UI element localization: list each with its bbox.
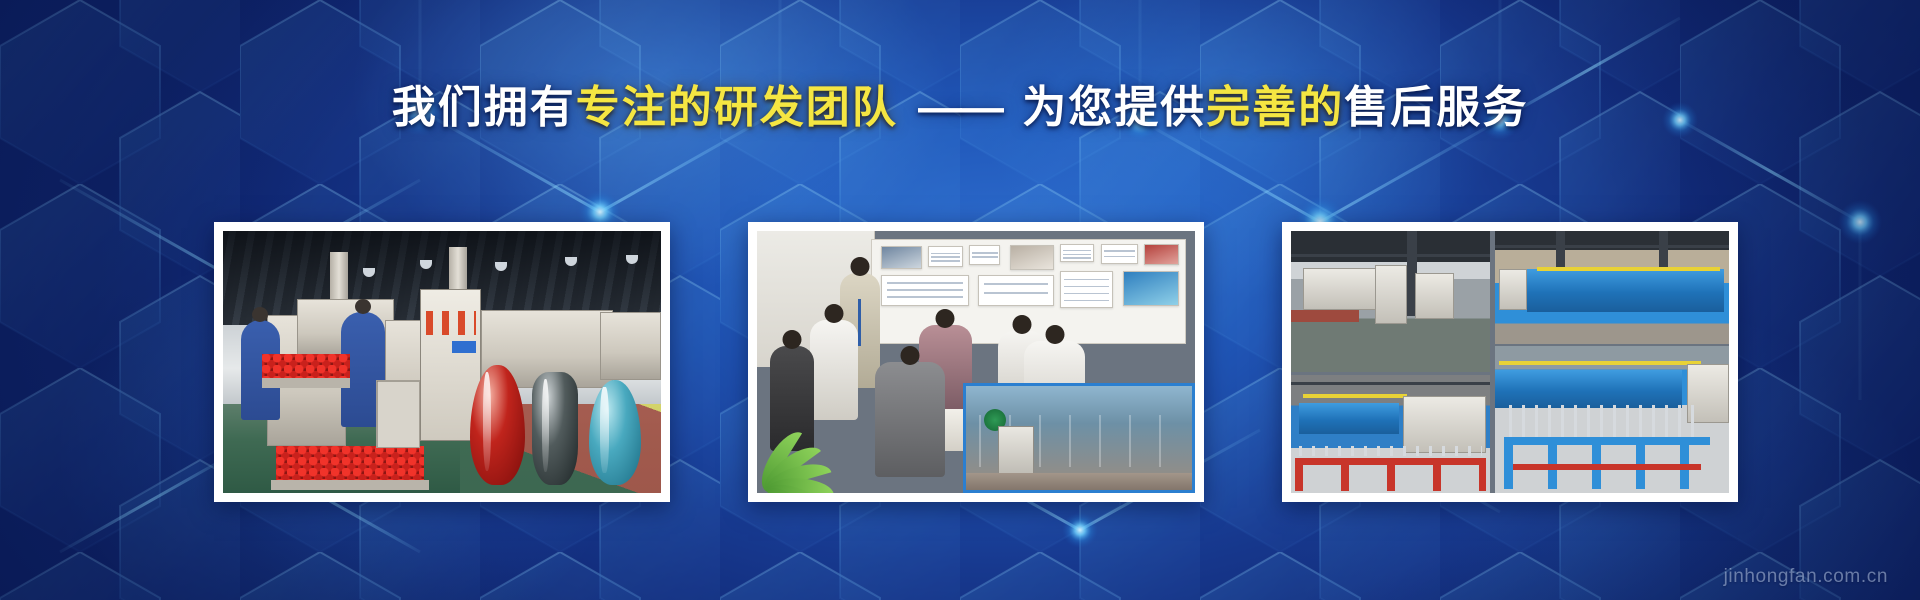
ceiling-lamp xyxy=(626,255,638,264)
building-wall xyxy=(1403,396,1487,453)
blue-rail xyxy=(1504,437,1710,444)
blue-tunnel-furnace xyxy=(1527,269,1724,312)
lanyard xyxy=(858,299,861,346)
control-label xyxy=(452,341,476,353)
red-base-rail xyxy=(1513,464,1700,470)
control-buttons xyxy=(426,311,476,335)
board-certificate xyxy=(1101,244,1139,264)
photo-frame-meeting[interactable] xyxy=(748,222,1204,502)
control-box xyxy=(998,426,1034,480)
roof-beam xyxy=(1291,382,1490,385)
board-drawing xyxy=(978,275,1053,306)
tunnel-oven-end xyxy=(600,312,661,380)
person-attendee-back xyxy=(875,362,945,477)
exhaust-hood xyxy=(1499,269,1527,310)
site-watermark: jinhongfan.com.cn xyxy=(1724,566,1888,588)
vase-dark xyxy=(532,372,578,485)
control-cabinet xyxy=(1375,265,1407,324)
collage-panel-drying-line xyxy=(1291,231,1490,372)
promo-banner: 我们拥有专注的研发团队 —— 为您提供完善的售后服务 xyxy=(0,0,1920,600)
plastic-crate xyxy=(376,380,420,448)
headline-part-1: 我们拥有 xyxy=(392,83,576,132)
headline-accent-2: 完善的 xyxy=(1206,83,1344,132)
exhaust-duct xyxy=(449,247,467,294)
oven-cabinet xyxy=(1303,268,1383,310)
inset-floor xyxy=(966,473,1192,490)
blue-chamber xyxy=(1299,403,1399,434)
board-drawing xyxy=(881,275,969,306)
board-photo xyxy=(1123,271,1179,306)
collage-panel-hanging-line xyxy=(1495,346,1729,493)
roof-beam xyxy=(1495,245,1729,248)
photo-frame-equipment-collage[interactable] xyxy=(1282,222,1738,502)
blue-tunnel-furnace xyxy=(1495,370,1682,408)
photo-frame-factory-line[interactable] xyxy=(214,222,670,502)
headline-separator: —— xyxy=(912,83,1008,132)
headline-accent-1: 专注的研发团队 xyxy=(576,83,898,132)
floor-marking xyxy=(1291,310,1359,321)
equipment-inset-photo xyxy=(963,383,1195,493)
collage-panel-conveyor xyxy=(1291,375,1490,493)
collage-panel-blue-furnace xyxy=(1495,231,1729,344)
photo-gallery xyxy=(0,222,1920,502)
headline-part-3: 为您提供 xyxy=(1022,83,1206,132)
photo-equipment-collage xyxy=(1291,231,1729,493)
person-attendee xyxy=(770,346,814,451)
red-products-on-line xyxy=(262,354,350,378)
conveyor-chain xyxy=(1299,446,1482,456)
machine-unit xyxy=(1415,273,1455,318)
product-bench xyxy=(271,480,429,490)
board-certificate xyxy=(1060,244,1094,263)
person-attendee xyxy=(810,320,858,420)
board-photo xyxy=(881,246,922,269)
photo-factory-line xyxy=(223,231,661,493)
board-document xyxy=(928,246,962,267)
board-photo xyxy=(1010,245,1054,270)
banner-headline: 我们拥有专注的研发团队 —— 为您提供完善的售后服务 xyxy=(0,82,1920,134)
roof-beam xyxy=(1291,254,1490,257)
headline-part-5: 售后服务 xyxy=(1344,83,1528,132)
yellow-gas-pipe xyxy=(1499,361,1701,365)
yellow-gantry xyxy=(1303,394,1407,398)
photo-meeting xyxy=(757,231,1195,493)
board-document xyxy=(969,245,1000,265)
board-photo xyxy=(1144,244,1178,265)
red-conveyor-rail xyxy=(1295,458,1486,465)
yellow-gas-pipe xyxy=(1537,267,1720,271)
board-spec-sheet xyxy=(1060,271,1113,308)
conveyor-legs xyxy=(1295,465,1486,491)
